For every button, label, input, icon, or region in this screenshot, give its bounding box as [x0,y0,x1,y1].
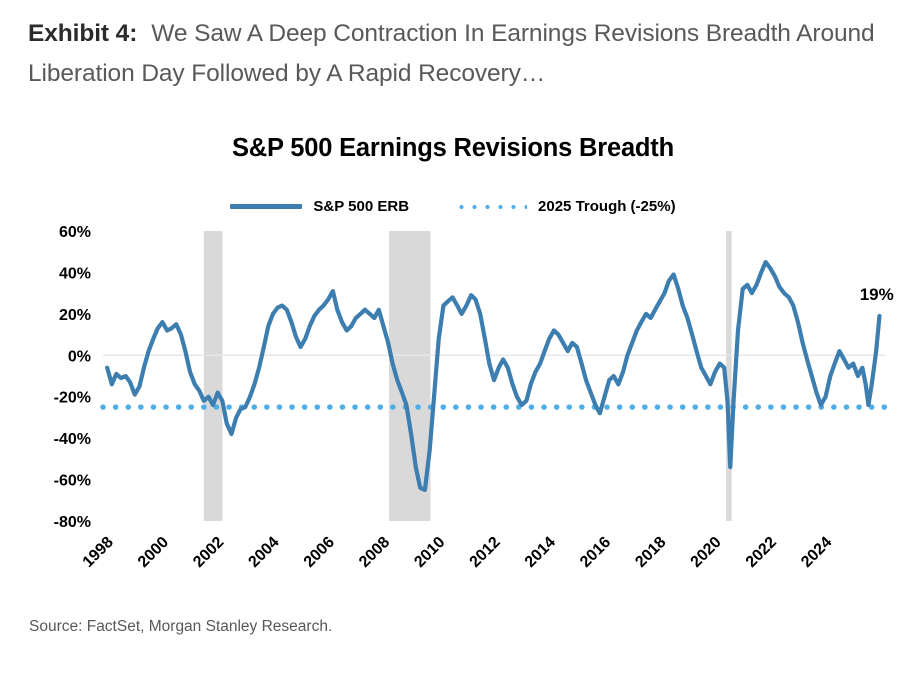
y-tick-label: -60% [54,473,91,490]
x-axis-ticks: 1998200020022004200620082010201220142016… [80,534,836,571]
y-tick-label: -40% [54,431,91,448]
source-note: Source: FactSet, Morgan Stanley Research… [29,618,332,636]
series-line-0 [107,262,879,490]
x-tick-label: 2010 [411,534,448,571]
y-tick-label: 40% [59,265,91,282]
x-tick-label: 2016 [577,534,614,571]
x-tick-label: 2008 [356,534,393,571]
recession-2001 [204,231,223,521]
recession-bands-layer [204,231,732,521]
x-tick-label: 2000 [135,534,172,571]
x-tick-label: 2022 [743,534,780,571]
chart-plot-area: 60%40%20%0%-20%-40%-60%-80% 199820002002… [0,0,906,686]
end-value-label: 19% [860,285,894,304]
annotations-layer: 19% [860,285,894,304]
x-tick-label: 2018 [632,534,669,571]
x-tick-label: 2020 [688,534,725,571]
x-tick-label: 2014 [522,534,559,571]
x-tick-label: 2024 [798,534,835,571]
x-tick-label: 2012 [467,534,504,571]
y-tick-label: -20% [54,390,91,407]
y-tick-label: 60% [59,224,91,241]
y-tick-label: -80% [54,514,91,531]
x-tick-label: 1998 [80,534,117,571]
x-tick-label: 2002 [190,534,227,571]
series-layer [107,262,879,490]
x-tick-label: 2006 [301,534,338,571]
y-tick-label: 20% [59,307,91,324]
y-axis-ticks: 60%40%20%0%-20%-40%-60%-80% [54,224,91,531]
chart-svg: 60%40%20%0%-20%-40%-60%-80% 199820002002… [0,0,906,686]
x-tick-label: 2004 [245,534,282,571]
y-tick-label: 0% [68,348,91,365]
